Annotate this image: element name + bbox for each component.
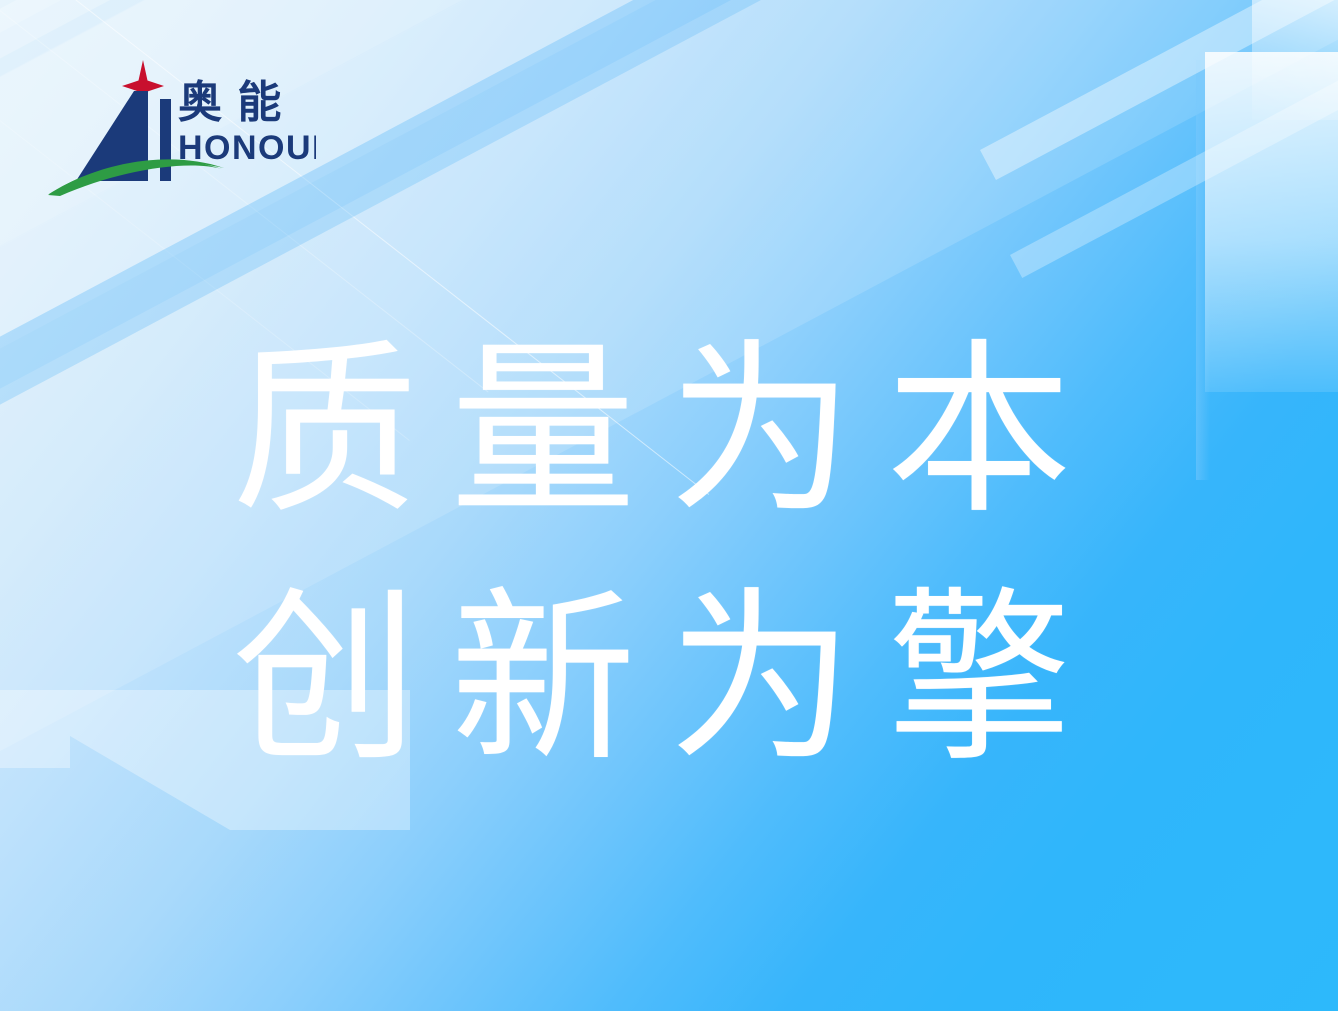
logo-chinese-name: 奥 能: [178, 77, 281, 128]
panel-highlight-edge-2: [1010, 0, 1338, 278]
right-corner-panel: [1252, 0, 1338, 120]
headline-block: 质量为本 创新为擎: [232, 316, 1132, 796]
headline-line-1: 质量为本: [232, 316, 1132, 548]
poster-canvas: 奥 能 HONOUR 质量为本 创新为擎: [0, 0, 1338, 1011]
right-bright-panel: [1205, 52, 1338, 392]
logo-latin-name: HONOUR: [178, 129, 316, 167]
company-logo: 奥 能 HONOUR: [46, 55, 316, 200]
panel-highlight-edge-1: [980, 0, 1338, 180]
logo-letter-i-bar: [160, 99, 171, 181]
headline-line-2: 创新为擎: [232, 564, 1132, 796]
honour-logo-svg: 奥 能 HONOUR: [46, 55, 316, 200]
column-shadow: [1196, 60, 1210, 480]
